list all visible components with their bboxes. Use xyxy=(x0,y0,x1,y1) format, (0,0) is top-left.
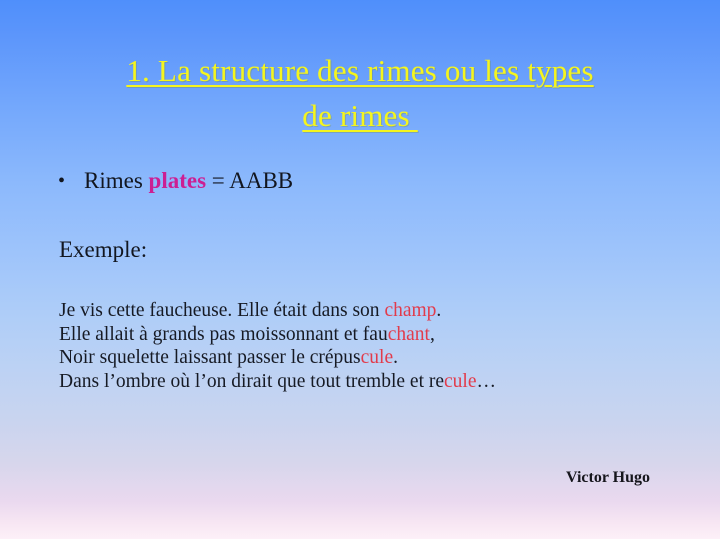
poem-line: Dans l’ombre où l’on dirait que tout tre… xyxy=(59,370,496,394)
presentation-slide: 1. La structure des rimes ou les types d… xyxy=(0,0,720,539)
poem-line: Je vis cette faucheuse. Elle était dans … xyxy=(59,299,496,323)
bullet-text-before: Rimes xyxy=(84,168,149,193)
example-label: Exemple: xyxy=(59,236,147,264)
slide-title-line-1: 1. La structure des rimes ou les types xyxy=(0,48,720,93)
slide-title: 1. La structure des rimes ou les types d… xyxy=(0,48,720,138)
poem-line-text-before: Elle allait à grands pas moissonnant et … xyxy=(59,324,388,345)
poem-line: Elle allait à grands pas moissonnant et … xyxy=(59,323,496,347)
poem-line-text-after: . xyxy=(436,300,441,321)
poem-line-text-after: . xyxy=(393,347,398,368)
poem-line: Noir squelette laissant passer le crépus… xyxy=(59,346,496,370)
quote-attribution: Victor Hugo xyxy=(566,468,650,488)
poem-line-text-after: … xyxy=(477,371,497,392)
poem-line-text-after: , xyxy=(430,324,435,345)
slide-title-line-2-text: de rimes xyxy=(302,98,417,133)
poem-line-rhyme: cule xyxy=(361,347,393,368)
bullet-item-rimes-plates: •Rimes plates = AABB xyxy=(58,167,293,195)
poem-line-text-before: Dans l’ombre où l’on dirait que tout tre… xyxy=(59,371,444,392)
poem-line-text-before: Je vis cette faucheuse. Elle était dans … xyxy=(59,300,384,321)
poem-quote: Je vis cette faucheuse. Elle était dans … xyxy=(59,299,496,393)
poem-line-rhyme: champ xyxy=(384,300,436,321)
poem-line-text-before: Noir squelette laissant passer le crépus xyxy=(59,347,361,368)
slide-title-line-2: de rimes xyxy=(0,93,720,138)
bullet-dot-icon: • xyxy=(58,167,84,195)
bullet-text-after: = AABB xyxy=(206,168,293,193)
poem-line-rhyme: chant xyxy=(388,324,430,345)
poem-line-rhyme: cule xyxy=(444,371,476,392)
bullet-keyword-plates: plates xyxy=(149,168,207,193)
slide-title-line-1-text: 1. La structure des rimes ou les types xyxy=(126,53,593,88)
